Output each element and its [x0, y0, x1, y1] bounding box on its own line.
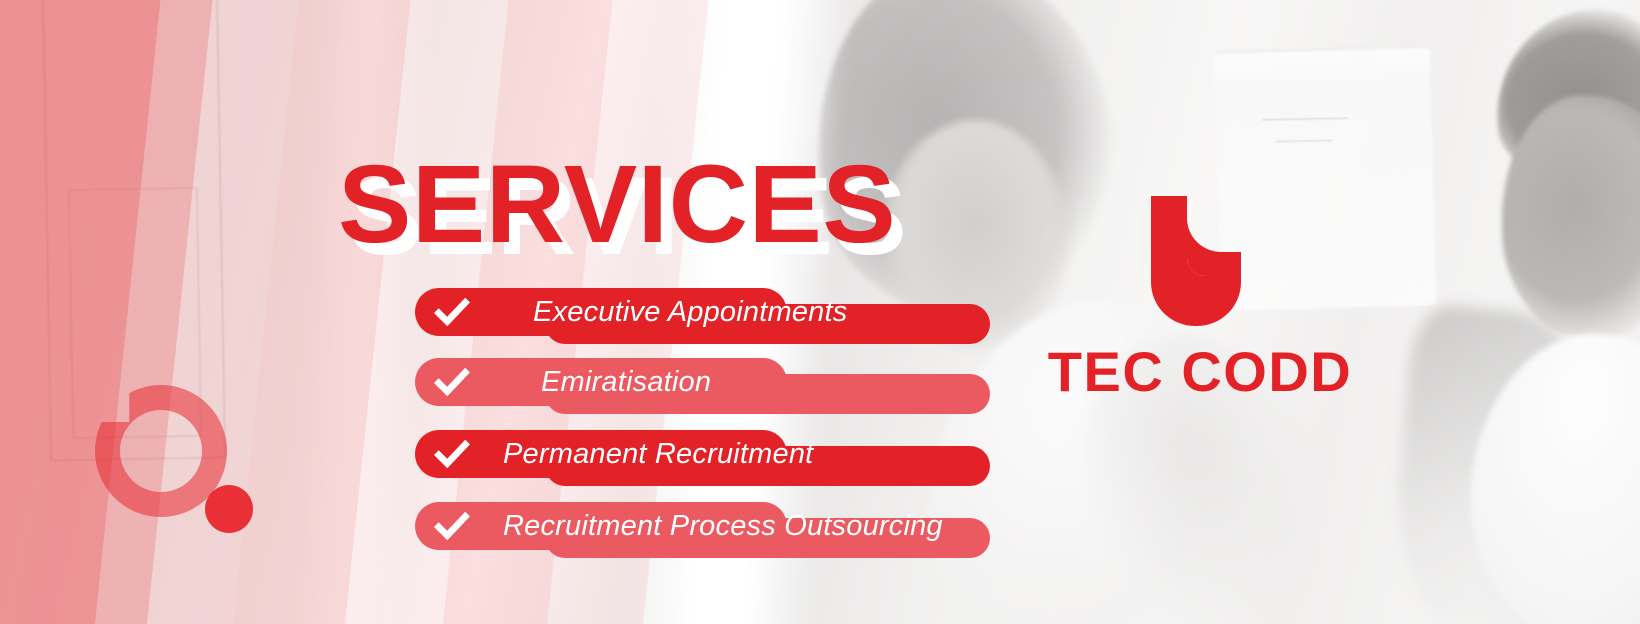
service-item-3[interactable]: Recruitment Process Outsourcing	[415, 502, 995, 564]
service-label: Executive Appointments	[533, 288, 847, 336]
service-item-1[interactable]: Emiratisation	[415, 358, 995, 420]
check-icon	[433, 293, 471, 331]
service-item-2[interactable]: Permanent Recruitment	[415, 430, 995, 492]
service-item-0[interactable]: Executive Appointments	[415, 288, 995, 350]
brand-logo: TEC CODD	[1035, 196, 1365, 406]
tec-codd-t-mark-icon	[1131, 196, 1261, 326]
service-label: Permanent Recruitment	[503, 430, 813, 478]
brand-wordmark: TEC CODD	[1035, 344, 1365, 400]
services-list: Executive Appointments Emiratisation Per…	[0, 0, 1640, 624]
service-label: Recruitment Process Outsourcing	[503, 502, 943, 550]
check-icon	[433, 363, 471, 401]
services-banner: SERVICES Executive Appointments Emiratis…	[0, 0, 1640, 624]
check-icon	[433, 435, 471, 473]
service-label: Emiratisation	[541, 358, 711, 406]
check-icon	[433, 507, 471, 545]
